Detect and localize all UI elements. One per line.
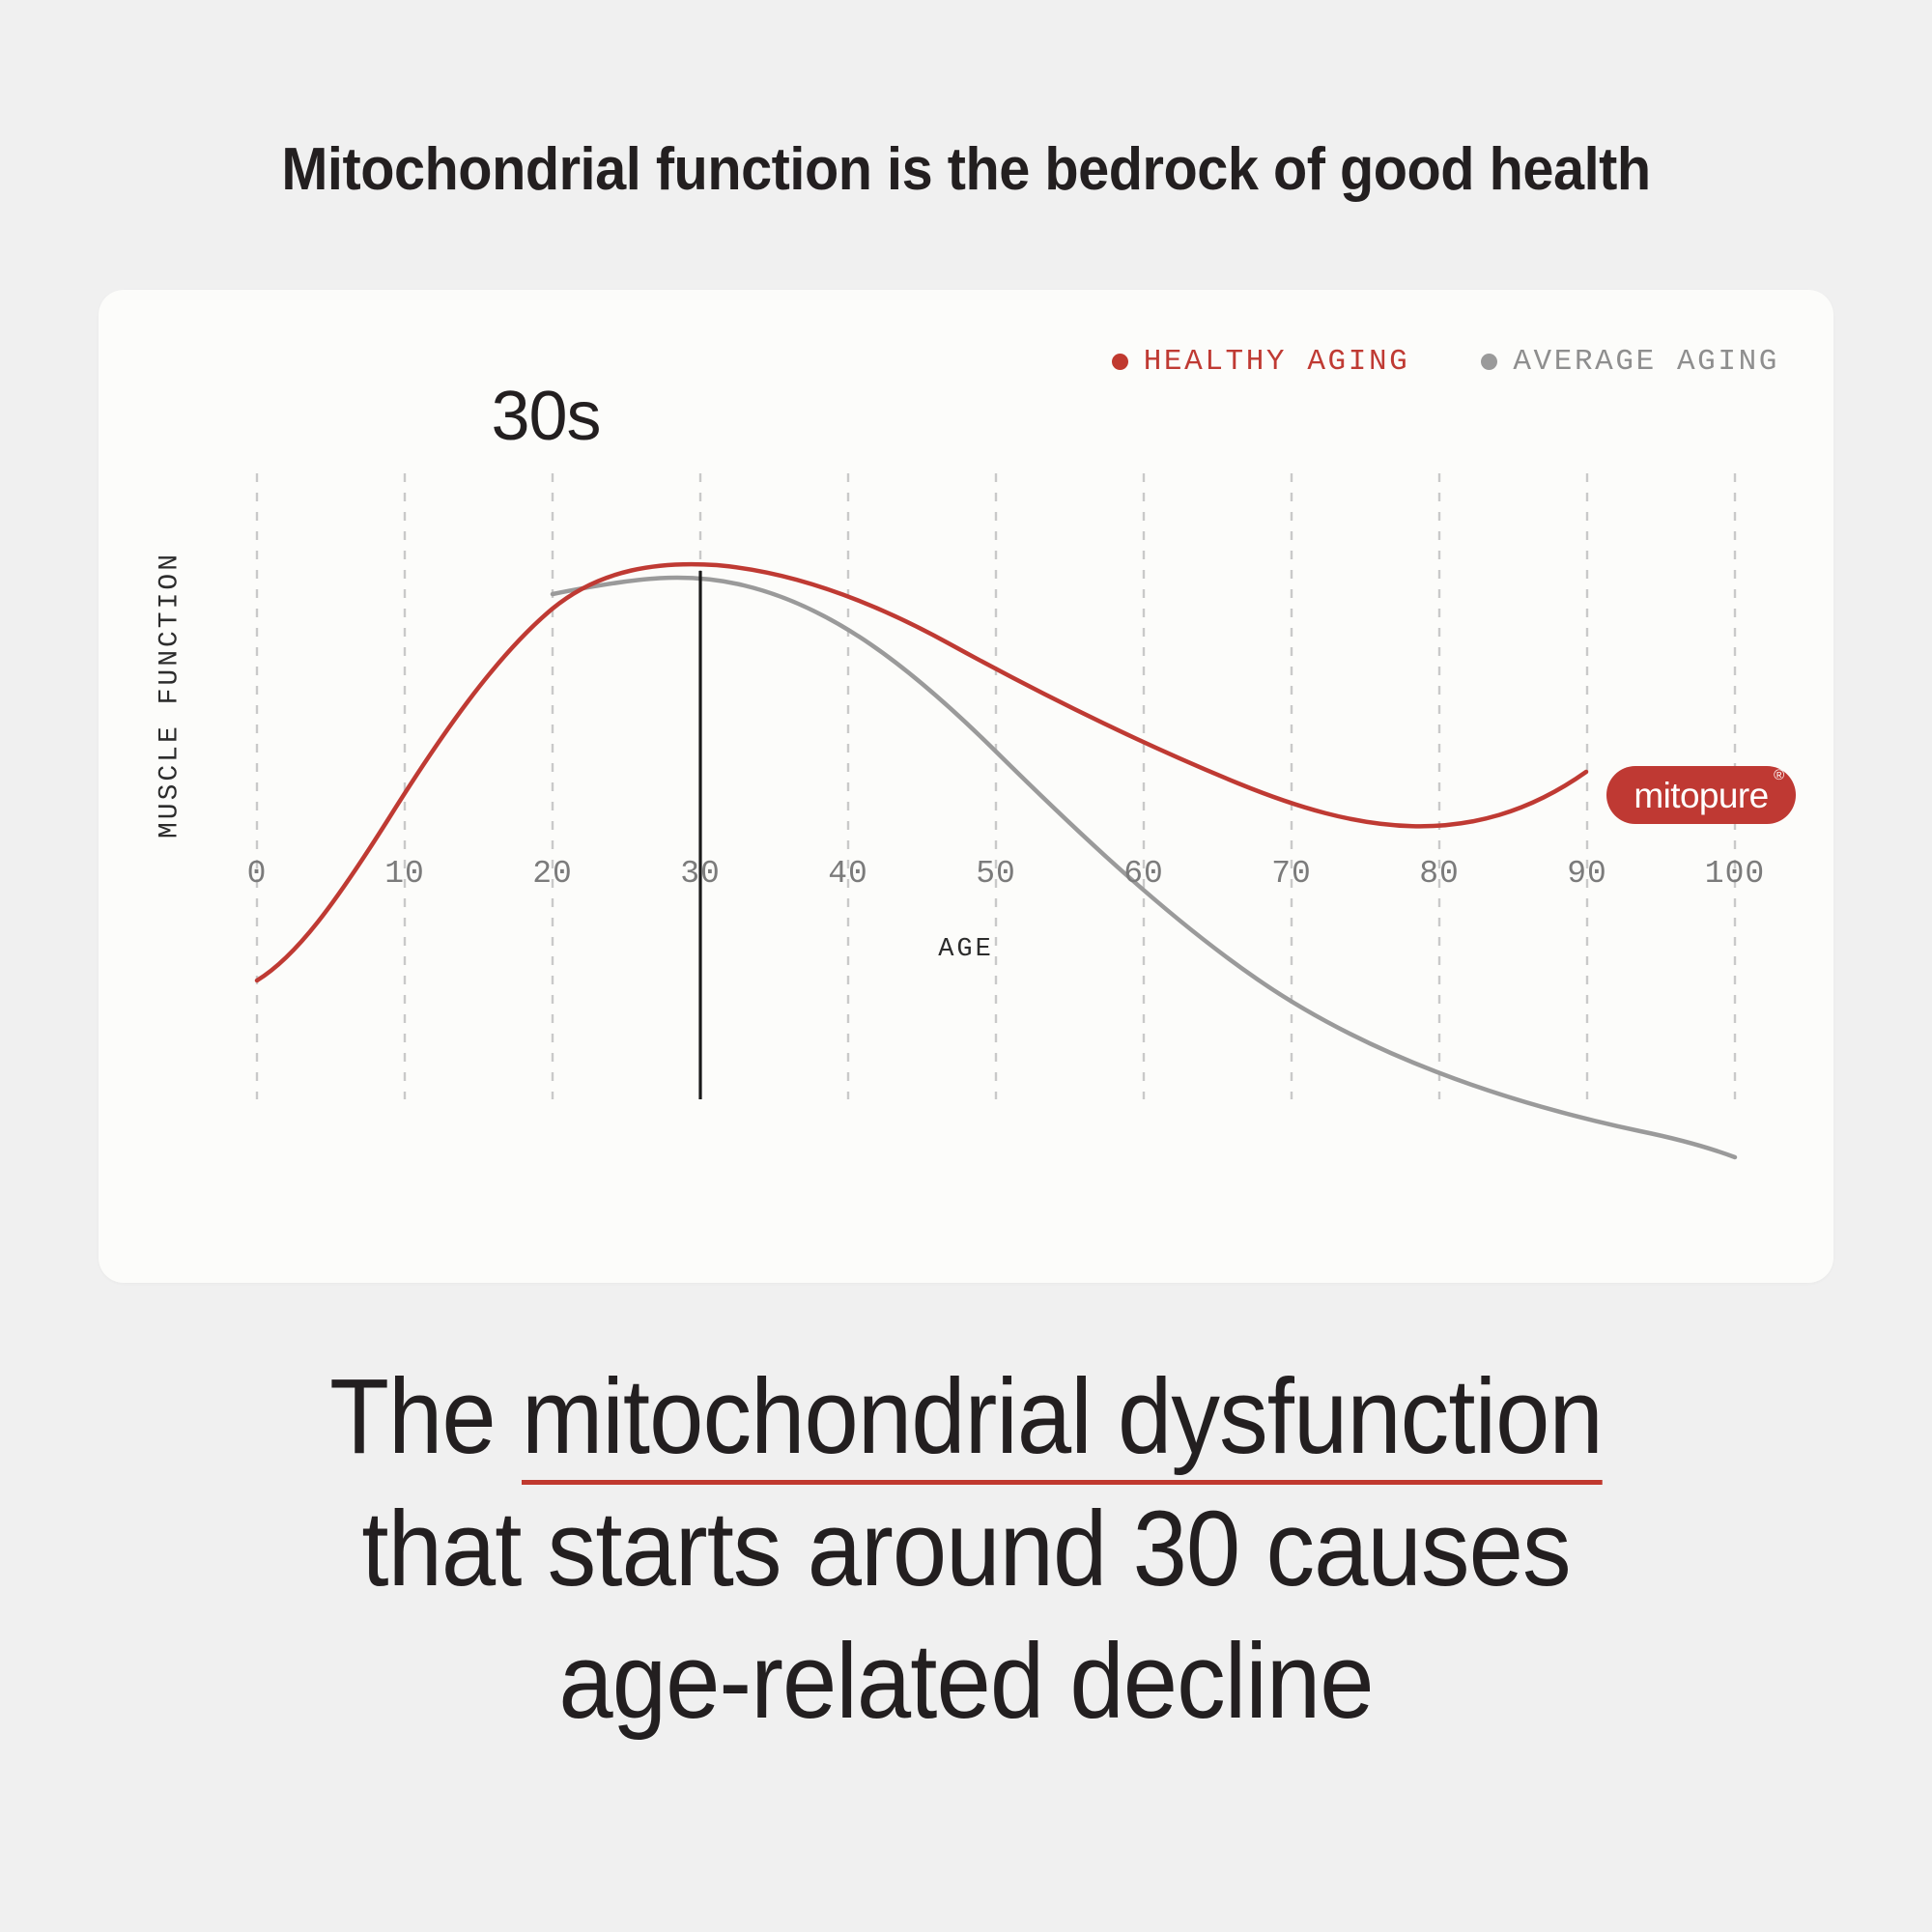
plot-area: 30s mitopure® MUSCLE FUNCTION 0 10 20 30…	[99, 290, 1833, 1283]
chart-card: HEALTHY AGING AVERAGE AGING	[99, 290, 1833, 1283]
x-tick-30: 30	[680, 856, 721, 892]
x-tick-80: 80	[1419, 856, 1460, 892]
x-tick-20: 20	[532, 856, 573, 892]
x-tick-50: 50	[976, 856, 1016, 892]
x-axis-ticks: 0 10 20 30 40 50 60 70 80 90 100	[99, 856, 1833, 904]
x-axis-label: AGE	[99, 935, 1833, 964]
x-tick-0: 0	[247, 856, 268, 892]
caption-line-1: The mitochondrial dysfunction	[77, 1350, 1855, 1483]
x-tick-10: 10	[384, 856, 425, 892]
mitopure-badge[interactable]: mitopure®	[1606, 766, 1796, 824]
x-tick-60: 60	[1123, 856, 1164, 892]
x-tick-70: 70	[1271, 856, 1312, 892]
peak-annotation-label: 30s	[446, 377, 645, 456]
caption-line-1-underlined: mitochondrial dysfunction	[522, 1357, 1603, 1485]
series-healthy-aging-curve	[257, 564, 1586, 980]
x-tick-40: 40	[828, 856, 868, 892]
infographic-page: Mitochondrial function is the bedrock of…	[0, 0, 1932, 1932]
mitopure-badge-text: mitopure®	[1634, 778, 1768, 813]
page-title: Mitochondrial function is the bedrock of…	[68, 135, 1864, 204]
y-axis-label: MUSCLE FUNCTION	[156, 541, 185, 850]
caption-line-2: that starts around 30 causes	[77, 1483, 1855, 1615]
gridlines	[257, 473, 1735, 1099]
caption-line-3: age-related decline	[77, 1615, 1855, 1747]
x-tick-90: 90	[1567, 856, 1607, 892]
caption-block: The mitochondrial dysfunction that start…	[77, 1350, 1855, 1747]
x-tick-100: 100	[1705, 856, 1765, 892]
mitopure-wordmark: mitopure	[1634, 776, 1768, 815]
chart-svg	[99, 290, 1833, 1283]
caption-line-1-prefix: The	[329, 1357, 522, 1476]
registered-trademark-icon: ®	[1774, 768, 1783, 782]
